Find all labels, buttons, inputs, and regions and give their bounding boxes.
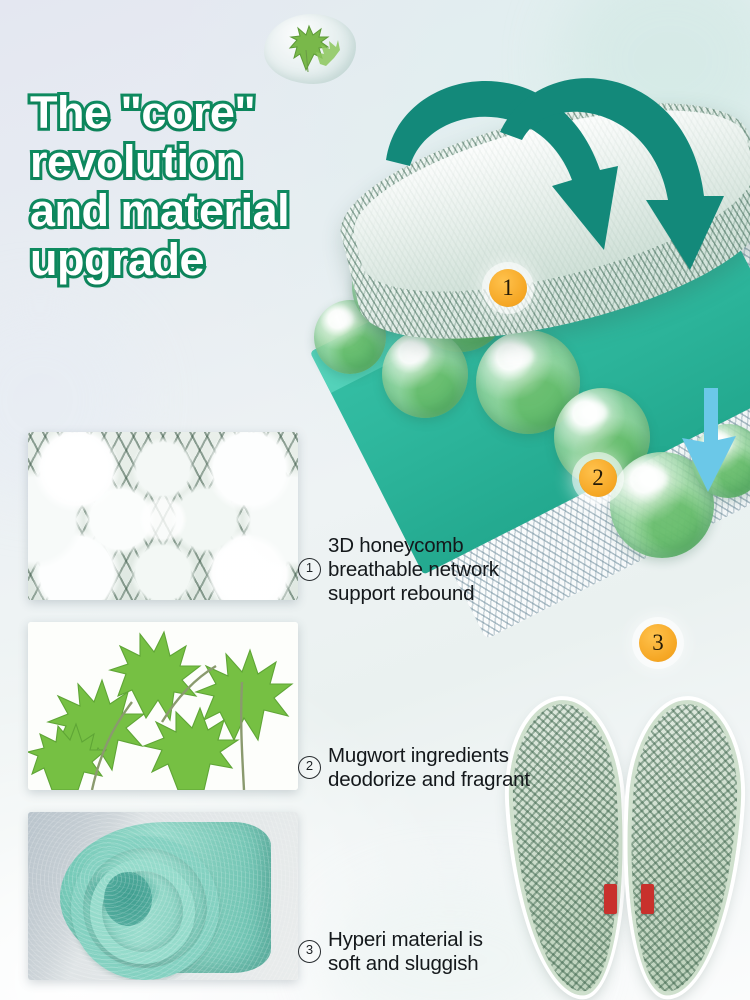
honeycomb-mesh-photo (28, 432, 298, 600)
mugwort-leaves-texture (28, 622, 298, 790)
product-badge-1: 1 (489, 269, 527, 307)
feature-caption-1: 1 3D honeycomb breathable network suppor… (298, 534, 499, 605)
product-badge-2-label: 2 (592, 465, 604, 491)
feature-caption-2: 2 Mugwort ingredients deodorize and frag… (298, 744, 530, 792)
insole-left (503, 697, 633, 999)
feature-text-3: Hyperi material is soft and sluggish (328, 928, 483, 976)
feature-marker-1: 1 (298, 558, 321, 581)
honeycomb-texture (28, 432, 298, 600)
rolled-foam-photo (28, 812, 298, 980)
feature-marker-3: 3 (298, 940, 321, 963)
gel-capsule-bead (382, 330, 468, 418)
product-infographic-poster: 1 2 3 The "core" revolution and material… (0, 0, 750, 1000)
product-badge-3: 3 (639, 624, 677, 662)
leaf-illustration (28, 622, 298, 790)
product-badge-3-label: 3 (652, 630, 664, 656)
product-badge-1-label: 1 (502, 275, 514, 301)
feature-caption-3: 3 Hyperi material is soft and sluggish (298, 928, 483, 976)
foam-surface-texture (28, 812, 298, 980)
rolled-foam-texture (28, 812, 298, 980)
feature-text-1: 3D honeycomb breathable network support … (328, 534, 499, 605)
insole-right-tab (641, 884, 654, 914)
insole-pair (508, 690, 750, 1000)
feature-text-2: Mugwort ingredients deodorize and fragra… (328, 744, 530, 792)
product-badge-2: 2 (579, 459, 617, 497)
mugwort-leaves-photo (28, 622, 298, 790)
page-title: The "core" revolution and material upgra… (30, 88, 370, 284)
insole-left-tab (604, 884, 617, 914)
feature-marker-2: 2 (298, 756, 321, 779)
insole-right (617, 697, 747, 999)
